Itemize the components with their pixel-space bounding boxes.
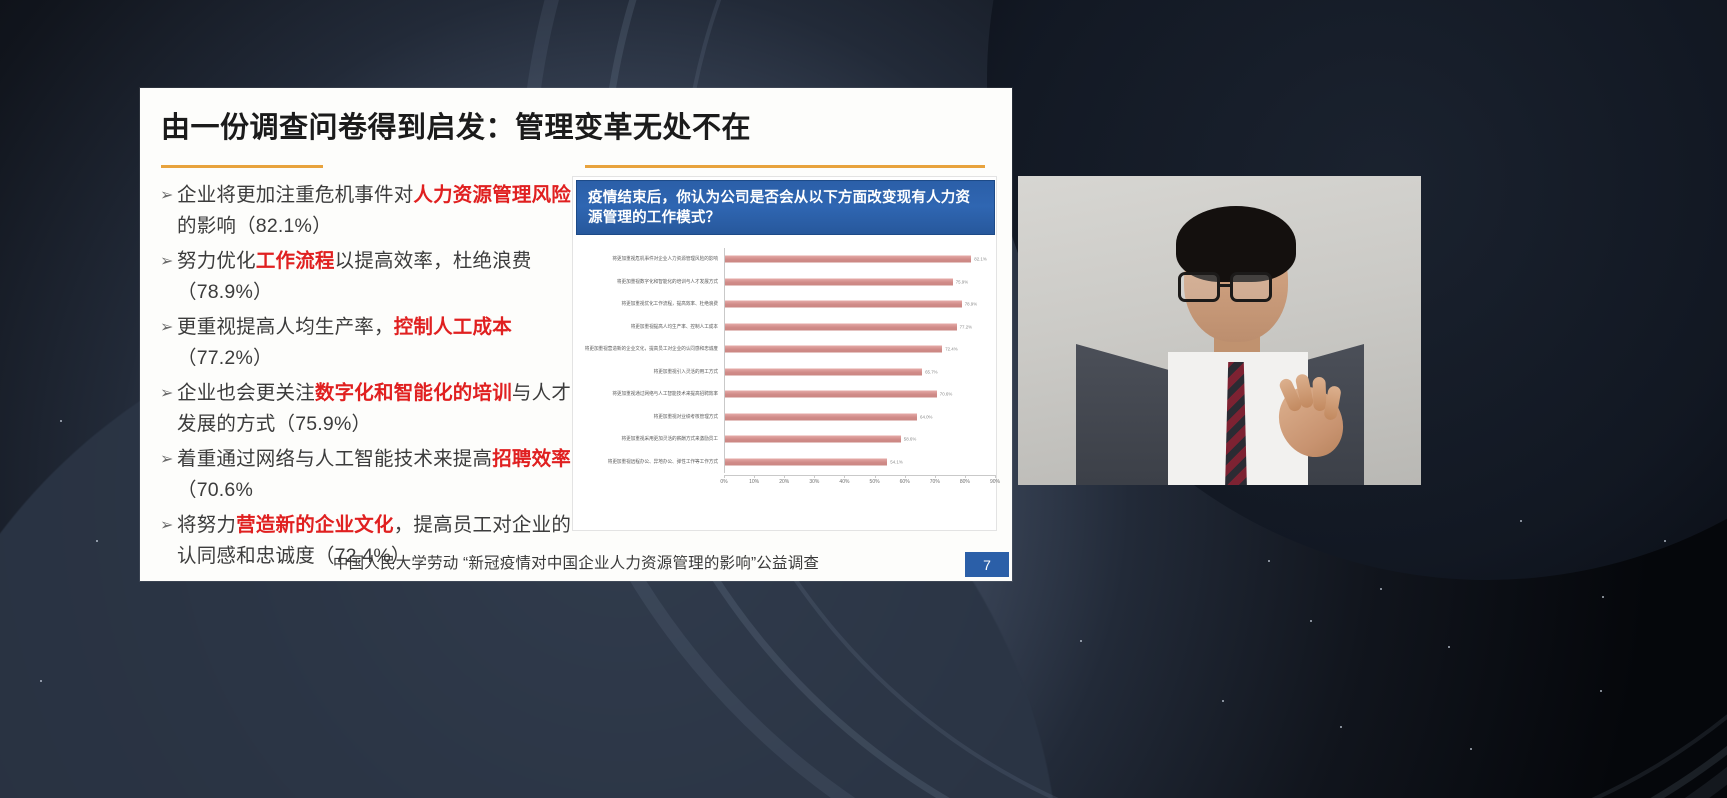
bar xyxy=(725,436,901,443)
bar xyxy=(725,323,957,330)
bar-chart-row: 将更加重视通过网络与人工智能技术来提高招聘效率70.6% xyxy=(576,383,995,406)
bar-track: 77.2% xyxy=(724,316,995,339)
x-axis-tick-label: 10% xyxy=(749,479,759,485)
x-axis: 0%10%20%30%40%50%60%70%80%90% xyxy=(576,475,995,489)
presenter-hair xyxy=(1176,206,1296,282)
bar-track: 70.6% xyxy=(724,383,995,406)
bullet-arrow-icon: ➢ xyxy=(160,180,177,211)
x-axis-tickmark xyxy=(965,475,966,478)
presenter-glasses-right xyxy=(1230,272,1272,302)
bar-chart-row: 将更加重视远程办公、异地办公、弹性工作等工作方式54.1% xyxy=(576,451,995,474)
bar-chart-row: 将更加重视引入灵活的用工方式65.7% xyxy=(576,361,995,384)
bar-category-label: 将更加重视采用更加灵活的薪酬方式来激励员工 xyxy=(576,436,724,442)
text-plain: 企业将更加注重危机事件对 xyxy=(177,184,413,206)
bar-value-label: 54.1% xyxy=(887,459,902,464)
x-axis-tickmark xyxy=(784,475,785,478)
list-item-text: 企业也会更关注数字化和智能化的培训与人才发展的方式（75.9%） xyxy=(177,378,572,440)
text-highlight: 人力资源管理风险 xyxy=(413,184,571,206)
bar xyxy=(725,391,937,398)
text-plain: （70.6% xyxy=(177,479,253,501)
bar-value-label: 70.6% xyxy=(937,392,952,397)
x-axis-tick-label: 70% xyxy=(930,479,940,485)
video-call-stage: 由一份调查问卷得到启发：管理变革无处不在 ➢ 企业将更加注重危机事件对人力资源管… xyxy=(0,0,1727,798)
presenter-video-tile[interactable] xyxy=(1018,176,1421,485)
bar-category-label: 将更加重视危机事件对企业人力资源管理风险的影响 xyxy=(576,256,724,262)
text-plain: （77.2%） xyxy=(177,347,273,369)
bar xyxy=(725,458,887,465)
bar-category-label: 将更加重视远程办公、异地办公、弹性工作等工作方式 xyxy=(576,459,724,465)
text-highlight: 招聘效率 xyxy=(492,448,571,470)
text-plain: 努力优化 xyxy=(177,250,256,272)
text-highlight: 工作流程 xyxy=(256,250,335,272)
bar-chart-row: 将更加重视优化工作流程，提高效率、杜绝浪费78.9% xyxy=(576,293,995,316)
bar-chart-row: 将更加重视采用更加灵活的薪酬方式来激励员工58.6% xyxy=(576,428,995,451)
chart-title: 疫情结束后，你认为公司是否会从以下方面改变现有人力资源管理的工作模式？ xyxy=(576,180,995,235)
list-item: ➢ 着重通过网络与人工智能技术来提高招聘效率（70.6% xyxy=(160,444,572,506)
text-plain: 企业也会更关注 xyxy=(177,382,315,404)
presenter-glasses-left xyxy=(1178,272,1220,302)
bar-category-label: 将更加重视优化工作流程，提高效率、杜绝浪费 xyxy=(576,301,724,307)
x-axis-tick-label: 90% xyxy=(990,479,1000,485)
x-axis-tick-label: 80% xyxy=(960,479,970,485)
title-rule-right xyxy=(585,165,985,168)
bar-track: 82.1% xyxy=(724,248,995,271)
x-axis-tick-label: 0% xyxy=(720,479,727,485)
bar xyxy=(725,413,917,420)
list-item: ➢ 企业将更加注重危机事件对人力资源管理风险的影响（82.1%） xyxy=(160,180,572,242)
bullet-arrow-icon: ➢ xyxy=(160,510,177,541)
x-axis-tickmark xyxy=(935,475,936,478)
bar-category-label: 将更加重视数字化和智能化的培训与人才发展方式 xyxy=(576,279,724,285)
bullet-arrow-icon: ➢ xyxy=(160,246,177,277)
text-highlight: 控制人工成本 xyxy=(394,316,512,338)
bar-track: 65.7% xyxy=(724,361,995,384)
x-axis-tick-label: 30% xyxy=(809,479,819,485)
x-axis-tick-label: 60% xyxy=(900,479,910,485)
x-axis-tickmark xyxy=(905,475,906,478)
x-axis-tickmark xyxy=(754,475,755,478)
bar-track: 75.9% xyxy=(724,271,995,294)
bar-value-label: 77.2% xyxy=(957,324,972,329)
slide-footer-citation: 中国人民大学劳动 “新冠疫情对中国企业人力资源管理的影响”公益调查 xyxy=(140,551,1012,573)
bullet-arrow-icon: ➢ xyxy=(160,444,177,475)
x-axis-tick-label: 50% xyxy=(870,479,880,485)
text-highlight: 营造新的企业文化 xyxy=(236,514,394,536)
x-axis-tickmark xyxy=(844,475,845,478)
list-item-text: 努力优化工作流程以提高效率，杜绝浪费（78.9%） xyxy=(177,246,572,308)
bar-track: 54.1% xyxy=(724,451,995,474)
bullet-arrow-icon: ➢ xyxy=(160,378,177,409)
text-plain: 更重视提高人均生产率， xyxy=(177,316,394,338)
x-axis-ticks: 0%10%20%30%40%50%60%70%80%90% xyxy=(724,475,995,489)
bullet-list: ➢ 企业将更加注重危机事件对人力资源管理风险的影响（82.1%） ➢ 努力优化工… xyxy=(160,180,572,576)
x-axis-tick-label: 40% xyxy=(839,479,849,485)
list-item: ➢ 企业也会更关注数字化和智能化的培训与人才发展的方式（75.9%） xyxy=(160,378,572,440)
bar xyxy=(725,301,962,308)
bar-value-label: 82.1% xyxy=(971,257,986,262)
bar xyxy=(725,346,942,353)
list-item-text: 更重视提高人均生产率，控制人工成本（77.2%） xyxy=(177,312,572,374)
page-title: 由一份调查问卷得到启发：管理变革无处不在 xyxy=(161,104,751,146)
x-axis-tickmark xyxy=(995,475,996,478)
bar-chart-row: 将更加重视数字化和智能化的培训与人才发展方式75.9% xyxy=(576,271,995,294)
x-axis-tickmark xyxy=(875,475,876,478)
bar-value-label: 78.9% xyxy=(962,302,977,307)
bar xyxy=(725,368,922,375)
bar-chart-row: 将更加重视对业绩考核管理方式64.0% xyxy=(576,406,995,429)
x-axis-tick-label: 20% xyxy=(779,479,789,485)
bar-category-label: 将更加重视引入灵活的用工方式 xyxy=(576,369,724,375)
bar xyxy=(725,256,971,263)
x-axis-tickmark xyxy=(814,475,815,478)
text-plain: 的影响（82.1%） xyxy=(177,215,332,237)
shared-slide[interactable]: 由一份调查问卷得到启发：管理变革无处不在 ➢ 企业将更加注重危机事件对人力资源管… xyxy=(140,88,1012,581)
slide-page-number: 7 xyxy=(965,552,1009,577)
list-item-text: 着重通过网络与人工智能技术来提高招聘效率（70.6% xyxy=(177,444,572,506)
bar xyxy=(725,278,953,285)
list-item-text: 企业将更加注重危机事件对人力资源管理风险的影响（82.1%） xyxy=(177,180,572,242)
bar-chart: 将更加重视危机事件对企业人力资源管理风险的影响82.1%将更加重视数字化和智能化… xyxy=(576,248,995,526)
bar-value-label: 58.6% xyxy=(901,437,916,442)
presenter-glasses-bridge xyxy=(1220,284,1230,287)
text-highlight: 数字化和智能化的培训 xyxy=(315,382,512,404)
list-item: ➢ 更重视提高人均生产率，控制人工成本（77.2%） xyxy=(160,312,572,374)
bar-chart-row: 将更加重视提高人均生产率、控制人工成本77.2% xyxy=(576,316,995,339)
bar-category-label: 将更加重视对业绩考核管理方式 xyxy=(576,414,724,420)
bar-value-label: 64.0% xyxy=(917,414,932,419)
bar-category-label: 将更加重视提高人均生产率、控制人工成本 xyxy=(576,324,724,330)
list-item: ➢ 努力优化工作流程以提高效率，杜绝浪费（78.9%） xyxy=(160,246,572,308)
title-rule-left xyxy=(161,165,323,168)
bar-track: 58.6% xyxy=(724,428,995,451)
bar-category-label: 将更加重视营造新的企业文化，提高员工对企业的认同感和忠诚度 xyxy=(576,346,724,352)
text-plain: 将努力 xyxy=(177,514,236,536)
bar-value-label: 65.7% xyxy=(922,369,937,374)
bar-track: 78.9% xyxy=(724,293,995,316)
bullet-arrow-icon: ➢ xyxy=(160,312,177,343)
bar-value-label: 72.4% xyxy=(942,347,957,352)
text-plain: 着重通过网络与人工智能技术来提高 xyxy=(177,448,492,470)
x-axis-tickmark xyxy=(724,475,725,478)
bar-track: 72.4% xyxy=(724,338,995,361)
bar-value-label: 75.9% xyxy=(953,279,968,284)
bar-chart-row: 将更加重视危机事件对企业人力资源管理风险的影响82.1% xyxy=(576,248,995,271)
bar-chart-rows: 将更加重视危机事件对企业人力资源管理风险的影响82.1%将更加重视数字化和智能化… xyxy=(576,248,995,473)
bar-category-label: 将更加重视通过网络与人工智能技术来提高招聘效率 xyxy=(576,391,724,397)
bar-chart-row: 将更加重视营造新的企业文化，提高员工对企业的认同感和忠诚度72.4% xyxy=(576,338,995,361)
bar-track: 64.0% xyxy=(724,406,995,429)
